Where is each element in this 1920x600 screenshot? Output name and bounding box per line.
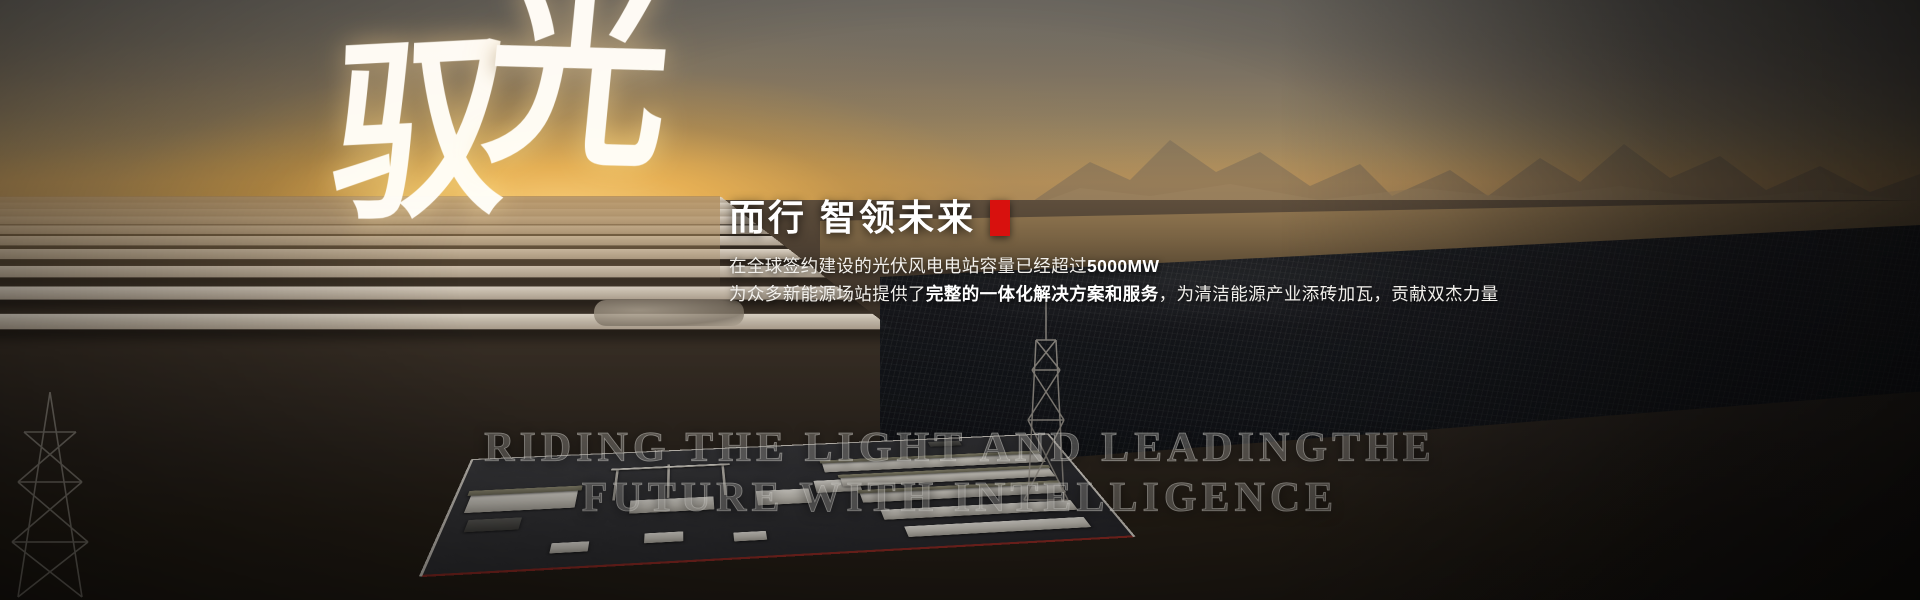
subtitle-line1-strong: 5000MW (1087, 256, 1159, 276)
horizon-haze-left (0, 196, 720, 292)
subtitle-line2-prefix: 为众多新能源场站提供了 (729, 284, 926, 304)
subtitle-line1-prefix: 在全球签约建设的光伏风电电站容量已经超过 (729, 256, 1087, 276)
hero-subtitle-line2: 为众多新能源场站提供了完整的一体化解决方案和服务，为清洁能源产业添砖加瓦，贡献双… (729, 280, 1499, 308)
equipment-skid (733, 531, 767, 542)
gantry-post (667, 465, 670, 498)
transmission-pylon-icon (4, 392, 96, 600)
subtitle-line2-strong: 完整的一体化解决方案和服务 (926, 284, 1159, 304)
equipment-skid (644, 531, 683, 543)
hero-headline: 而行 智领未来 (729, 200, 1499, 236)
hero-subtitle-line1: 在全球签约建设的光伏风电电站容量已经超过5000MW (729, 252, 1499, 280)
hero-headline-text: 而行 智领未来 (729, 200, 976, 236)
accent-bar (990, 200, 1010, 236)
transformer-unit (756, 488, 812, 505)
distant-mountains-icon (1020, 100, 1920, 210)
storage-tanks (594, 300, 744, 326)
hero-banner: RIDING THE LIGHT AND LEADINGTHE FUTURE W… (0, 0, 1920, 600)
transmission-pylon-icon (1022, 300, 1070, 530)
hero-subtitle: 在全球签约建设的光伏风电电站容量已经超过5000MW 为众多新能源场站提供了完整… (729, 252, 1499, 309)
hero-copy-block: 而行 智领未来 在全球签约建设的光伏风电电站容量已经超过5000MW 为众多新能… (729, 200, 1499, 309)
equipment-skid (549, 541, 589, 553)
subtitle-line2-suffix: ，为清洁能源产业添砖加瓦，贡献双杰力量 (1159, 284, 1499, 304)
